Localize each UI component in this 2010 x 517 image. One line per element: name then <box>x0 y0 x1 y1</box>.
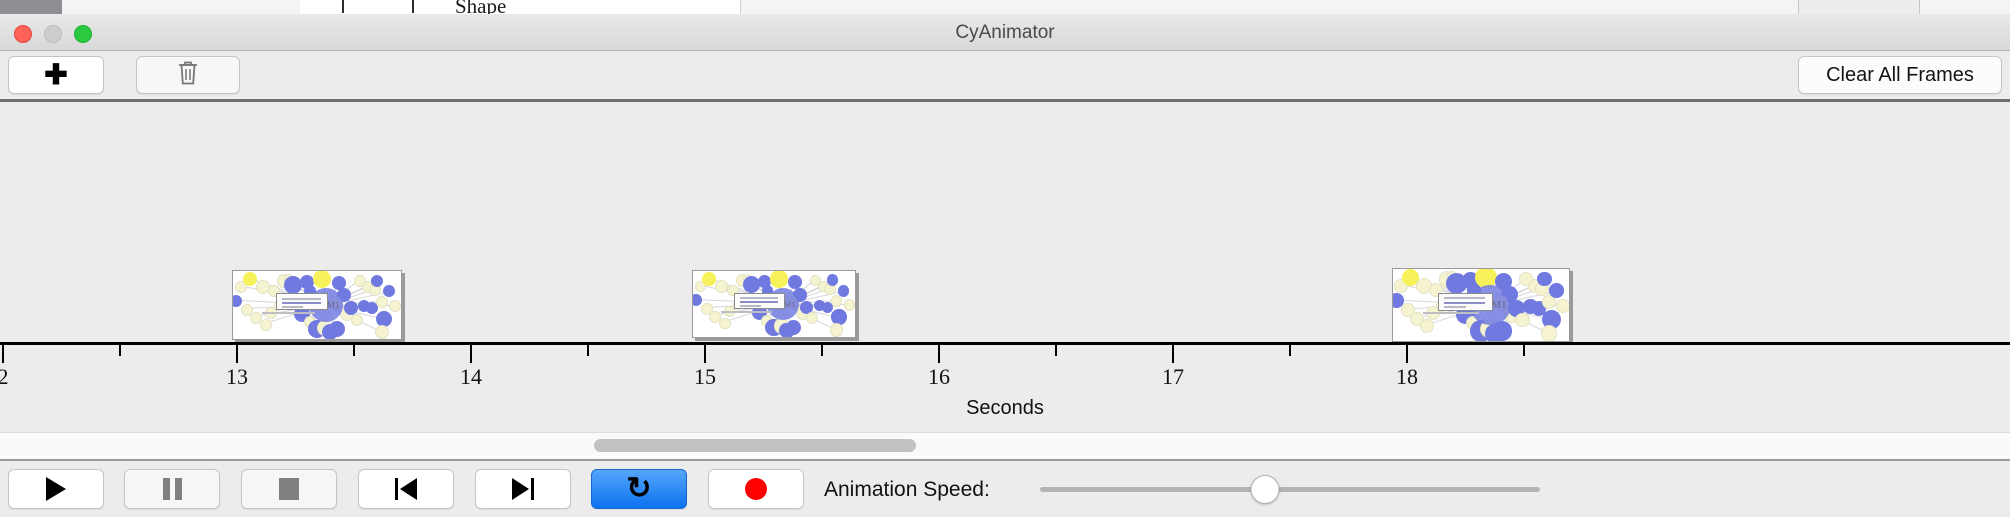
network-node <box>788 275 802 289</box>
play-icon <box>46 477 66 501</box>
add-frame-button[interactable]: ✚ <box>8 56 104 94</box>
axis-line <box>0 342 2010 345</box>
tooltip-text-line <box>282 302 321 304</box>
animation-speed-label: Animation Speed: <box>824 478 990 502</box>
axis-tick-major <box>1406 345 1408 363</box>
axis-tick-label: 18 <box>1396 364 1418 390</box>
axis-tick-label: 16 <box>928 364 950 390</box>
keyframe-thumbnail[interactable]: MCM1 <box>692 270 856 338</box>
axis-tick-minor <box>353 345 355 356</box>
axis-tick-major <box>704 345 706 363</box>
axis-title-label: Seconds <box>0 397 2010 420</box>
tooltip-text-line <box>740 297 778 299</box>
skip-forward-icon <box>512 478 534 500</box>
network-node <box>831 295 843 307</box>
background-window-right-box <box>1798 0 1920 14</box>
playback-controls-bar: ↻ Animation Speed: <box>0 461 2010 517</box>
animation-speed-slider[interactable] <box>1040 479 1540 499</box>
scrollbar-thumb[interactable] <box>594 439 916 452</box>
network-node <box>375 325 389 339</box>
cyanimator-window: CyAnimator ✚ Clear All Frames MCM1MCM1MC… <box>0 14 2010 510</box>
title-bar: CyAnimator <box>0 14 2010 51</box>
network-node <box>1420 319 1434 333</box>
background-window-mark-1 <box>342 0 344 13</box>
stop-button[interactable] <box>241 469 337 509</box>
axis-tick-label: 14 <box>460 364 482 390</box>
network-node <box>389 300 401 312</box>
axis-tick-label: 2 <box>0 364 9 390</box>
skip-back-icon <box>395 478 417 500</box>
record-button[interactable] <box>708 469 804 509</box>
tooltip-text-line <box>282 306 303 308</box>
network-node <box>770 270 787 287</box>
network-node <box>332 276 346 290</box>
background-window-mark-2 <box>412 0 414 13</box>
network-node <box>1541 325 1557 341</box>
axis-tick-minor <box>1055 345 1057 356</box>
pause-button[interactable] <box>124 469 220 509</box>
tooltip-text-line <box>740 305 760 307</box>
tooltip-text-line <box>740 301 778 303</box>
pause-icon <box>163 478 182 500</box>
axis-tick-major <box>236 345 238 363</box>
network-node <box>243 272 257 286</box>
axis-tick-major <box>938 345 940 363</box>
network-caption-line <box>721 311 773 313</box>
keyframe-network-image: MCM1 <box>693 271 855 337</box>
toolbar: ✚ Clear All Frames <box>0 51 2010 102</box>
network-node <box>1515 313 1529 327</box>
keyframe-network-image: MCM1 <box>1393 269 1569 341</box>
network-node <box>1549 283 1563 297</box>
network-node <box>806 312 818 324</box>
background-window-sliver: Shape <box>0 0 2010 15</box>
timeline-axis: 2131415161718 Seconds <box>0 342 2010 432</box>
network-node <box>232 295 242 307</box>
slider-track <box>1040 487 1540 492</box>
network-node <box>351 314 363 326</box>
network-node <box>371 275 383 287</box>
network-node <box>692 294 702 306</box>
network-node <box>376 296 388 308</box>
stop-icon <box>279 478 299 500</box>
timeline-horizontal-scrollbar[interactable] <box>0 432 2010 461</box>
axis-tick-minor <box>587 345 589 356</box>
background-window-dark-segment <box>0 0 62 14</box>
tooltip-text-line <box>1444 306 1466 308</box>
network-node <box>1537 272 1551 286</box>
network-tooltip-callout <box>734 293 785 310</box>
clear-all-frames-button[interactable]: Clear All Frames <box>1798 56 2002 94</box>
axis-tick-label: 15 <box>694 364 716 390</box>
network-node <box>1556 299 1570 313</box>
network-tooltip-callout <box>1438 293 1493 311</box>
network-caption-line <box>1423 312 1479 314</box>
skip-to-end-button[interactable] <box>475 469 571 509</box>
loop-button[interactable]: ↻ <box>591 469 687 509</box>
axis-tick-major <box>2 345 4 363</box>
network-node <box>830 323 844 337</box>
network-node <box>376 311 392 327</box>
delete-frame-button[interactable] <box>136 56 240 94</box>
window-title: CyAnimator <box>0 22 2010 44</box>
network-node <box>719 318 731 330</box>
timeline-panel[interactable]: MCM1MCM1MCM1 2131415161718 Seconds <box>0 102 2010 432</box>
keyframes-layer: MCM1MCM1MCM1 <box>0 102 2010 342</box>
plus-icon: ✚ <box>44 61 67 89</box>
network-node <box>743 276 760 293</box>
axis-tick-minor <box>821 345 823 356</box>
axis-tick-minor <box>119 345 121 356</box>
network-tooltip-callout <box>276 293 328 310</box>
trash-icon <box>176 59 200 92</box>
network-node <box>827 274 839 286</box>
axis-tick-minor <box>1523 345 1525 356</box>
network-caption-line <box>262 312 316 314</box>
play-button[interactable] <box>8 469 104 509</box>
keyframe-thumbnail[interactable]: MCM1 <box>232 270 402 340</box>
network-node <box>260 319 272 331</box>
axis-tick-major <box>470 345 472 363</box>
tooltip-text-line <box>282 298 321 300</box>
slider-thumb[interactable] <box>1251 475 1280 504</box>
background-window-shape-label: Shape <box>455 0 506 15</box>
network-node <box>329 321 345 337</box>
axis-tick-label: 17 <box>1162 364 1184 390</box>
background-window-white-panel <box>300 0 741 14</box>
tooltip-text-line <box>1444 302 1485 304</box>
network-node <box>313 270 331 288</box>
axis-tick-major <box>1172 345 1174 363</box>
keyframe-network-image: MCM1 <box>233 271 401 339</box>
record-icon <box>745 478 767 500</box>
keyframe-thumbnail[interactable]: MCM1 <box>1392 268 1570 342</box>
tooltip-text-line <box>1444 297 1485 299</box>
network-node <box>383 285 395 297</box>
axis-tick-minor <box>1289 345 1291 356</box>
network-node <box>844 299 856 311</box>
network-node <box>838 285 850 297</box>
axis-tick-label: 13 <box>226 364 248 390</box>
network-node <box>702 272 716 286</box>
loop-icon: ↻ <box>626 474 651 504</box>
skip-to-start-button[interactable] <box>358 469 454 509</box>
network-node <box>786 320 801 335</box>
